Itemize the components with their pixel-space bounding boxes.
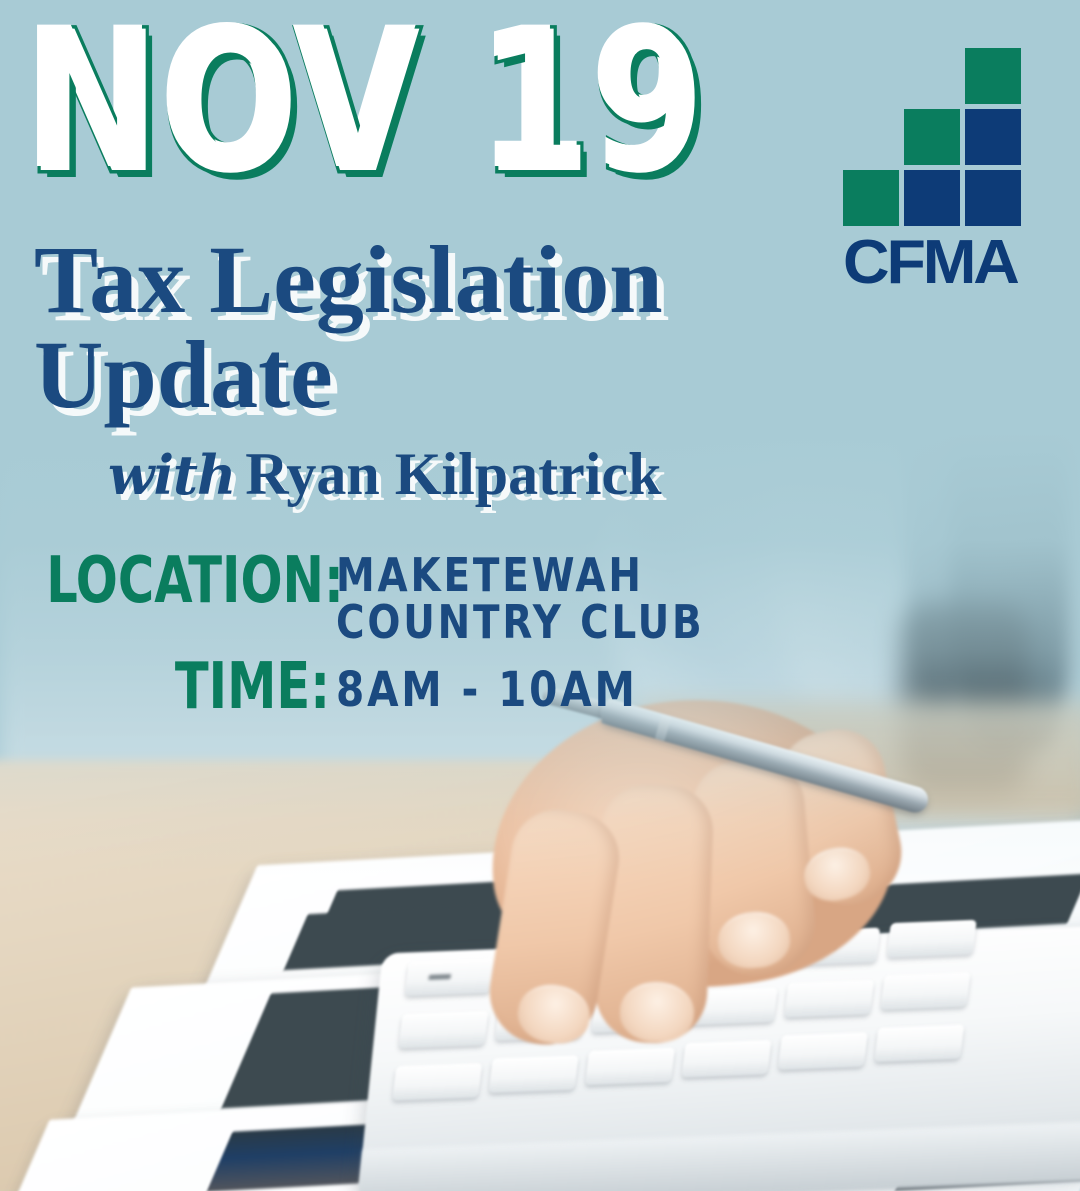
location-value-line-2: COUNTRY CLUB bbox=[336, 599, 704, 646]
event-title-line-1: Tax Legislation bbox=[34, 226, 663, 333]
location-label: LOCATION: bbox=[46, 552, 330, 611]
time-value-line-1: 8AM - 10AM bbox=[336, 666, 638, 715]
logo-tile-top-left bbox=[843, 48, 899, 104]
logo-tile-top-center bbox=[904, 48, 960, 104]
cfma-logo-tiles bbox=[843, 48, 1021, 226]
speaker-prefix: with bbox=[108, 443, 235, 507]
logo-tile-top-right bbox=[965, 48, 1021, 104]
logo-tile-mid-center bbox=[904, 109, 960, 165]
time-label: TIME: bbox=[46, 658, 330, 717]
logo-tile-bottom-center bbox=[904, 170, 960, 226]
event-flyer: NOV 19 CFMA Tax Legislation Update withR… bbox=[0, 0, 1080, 1191]
location-value: MAKETEWAH COUNTRY CLUB bbox=[336, 552, 704, 646]
event-title: Tax Legislation Update bbox=[34, 232, 663, 422]
location-value-line-1: MAKETEWAH bbox=[336, 552, 704, 599]
detail-row-time: TIME: 8AM - 10AM bbox=[0, 658, 700, 717]
speaker-line: withRyan Kilpatrick bbox=[108, 444, 661, 504]
speaker-name: Ryan Kilpatrick bbox=[245, 441, 661, 507]
cfma-logo: CFMA bbox=[843, 48, 1029, 294]
logo-tile-mid-right bbox=[965, 109, 1021, 165]
cfma-wordmark: CFMA bbox=[843, 232, 1036, 294]
event-details: LOCATION: MAKETEWAH COUNTRY CLUB TIME: 8… bbox=[0, 552, 700, 719]
logo-tile-bottom-right bbox=[965, 170, 1021, 226]
event-title-line-2: Update bbox=[34, 327, 663, 422]
event-date-banner: NOV 19 bbox=[26, 6, 707, 200]
time-value: 8AM - 10AM bbox=[336, 658, 638, 715]
logo-tile-mid-left bbox=[843, 109, 899, 165]
detail-row-location: LOCATION: MAKETEWAH COUNTRY CLUB bbox=[0, 552, 700, 646]
logo-tile-bottom-left bbox=[843, 170, 899, 226]
